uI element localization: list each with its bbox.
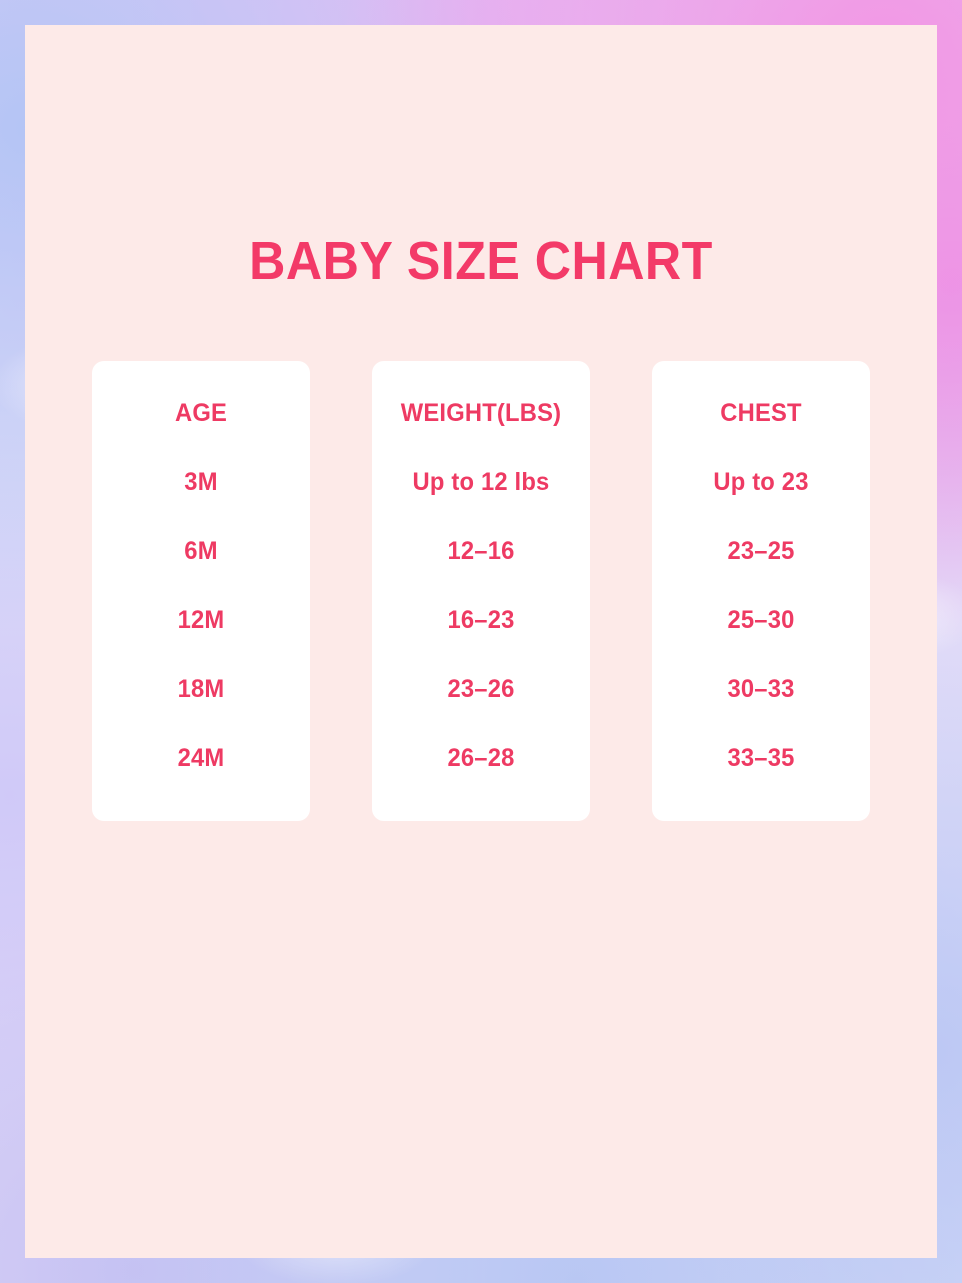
- page-title: BABY SIZE CHART: [57, 230, 905, 292]
- table-cell-weight-12m: 16–23: [377, 586, 584, 655]
- table-cell-age-18m: 18M: [97, 655, 304, 724]
- table-cell-age-24m: 24M: [97, 724, 304, 793]
- table-cell-chest-12m: 25–30: [657, 586, 864, 655]
- content-panel: BABY SIZE CHART AGE 3M 6M 12M 18M 24M WE…: [25, 25, 937, 1258]
- column-header-age: AGE: [97, 379, 304, 448]
- table-column-weight: WEIGHT(LBS) Up to 12 lbs 12–16 16–23 23–…: [372, 361, 590, 821]
- table-cell-chest-6m: 23–25: [657, 517, 864, 586]
- table-column-chest: CHEST Up to 23 23–25 25–30 30–33 33–35: [652, 361, 870, 821]
- column-header-chest: CHEST: [657, 379, 864, 448]
- table-cell-weight-18m: 23–26: [377, 655, 584, 724]
- column-header-weight: WEIGHT(LBS): [377, 379, 584, 448]
- table-cell-age-6m: 6M: [97, 517, 304, 586]
- table-cell-weight-24m: 26–28: [377, 724, 584, 793]
- table-cell-weight-6m: 12–16: [377, 517, 584, 586]
- size-chart-table: AGE 3M 6M 12M 18M 24M WEIGHT(LBS) Up to …: [92, 361, 870, 821]
- table-cell-age-12m: 12M: [97, 586, 304, 655]
- table-cell-weight-3m: Up to 12 lbs: [377, 448, 584, 517]
- table-cell-chest-3m: Up to 23: [657, 448, 864, 517]
- poster-canvas: BABY SIZE CHART AGE 3M 6M 12M 18M 24M WE…: [0, 0, 962, 1283]
- table-cell-chest-24m: 33–35: [657, 724, 864, 793]
- table-cell-chest-18m: 30–33: [657, 655, 864, 724]
- table-column-age: AGE 3M 6M 12M 18M 24M: [92, 361, 310, 821]
- table-cell-age-3m: 3M: [97, 448, 304, 517]
